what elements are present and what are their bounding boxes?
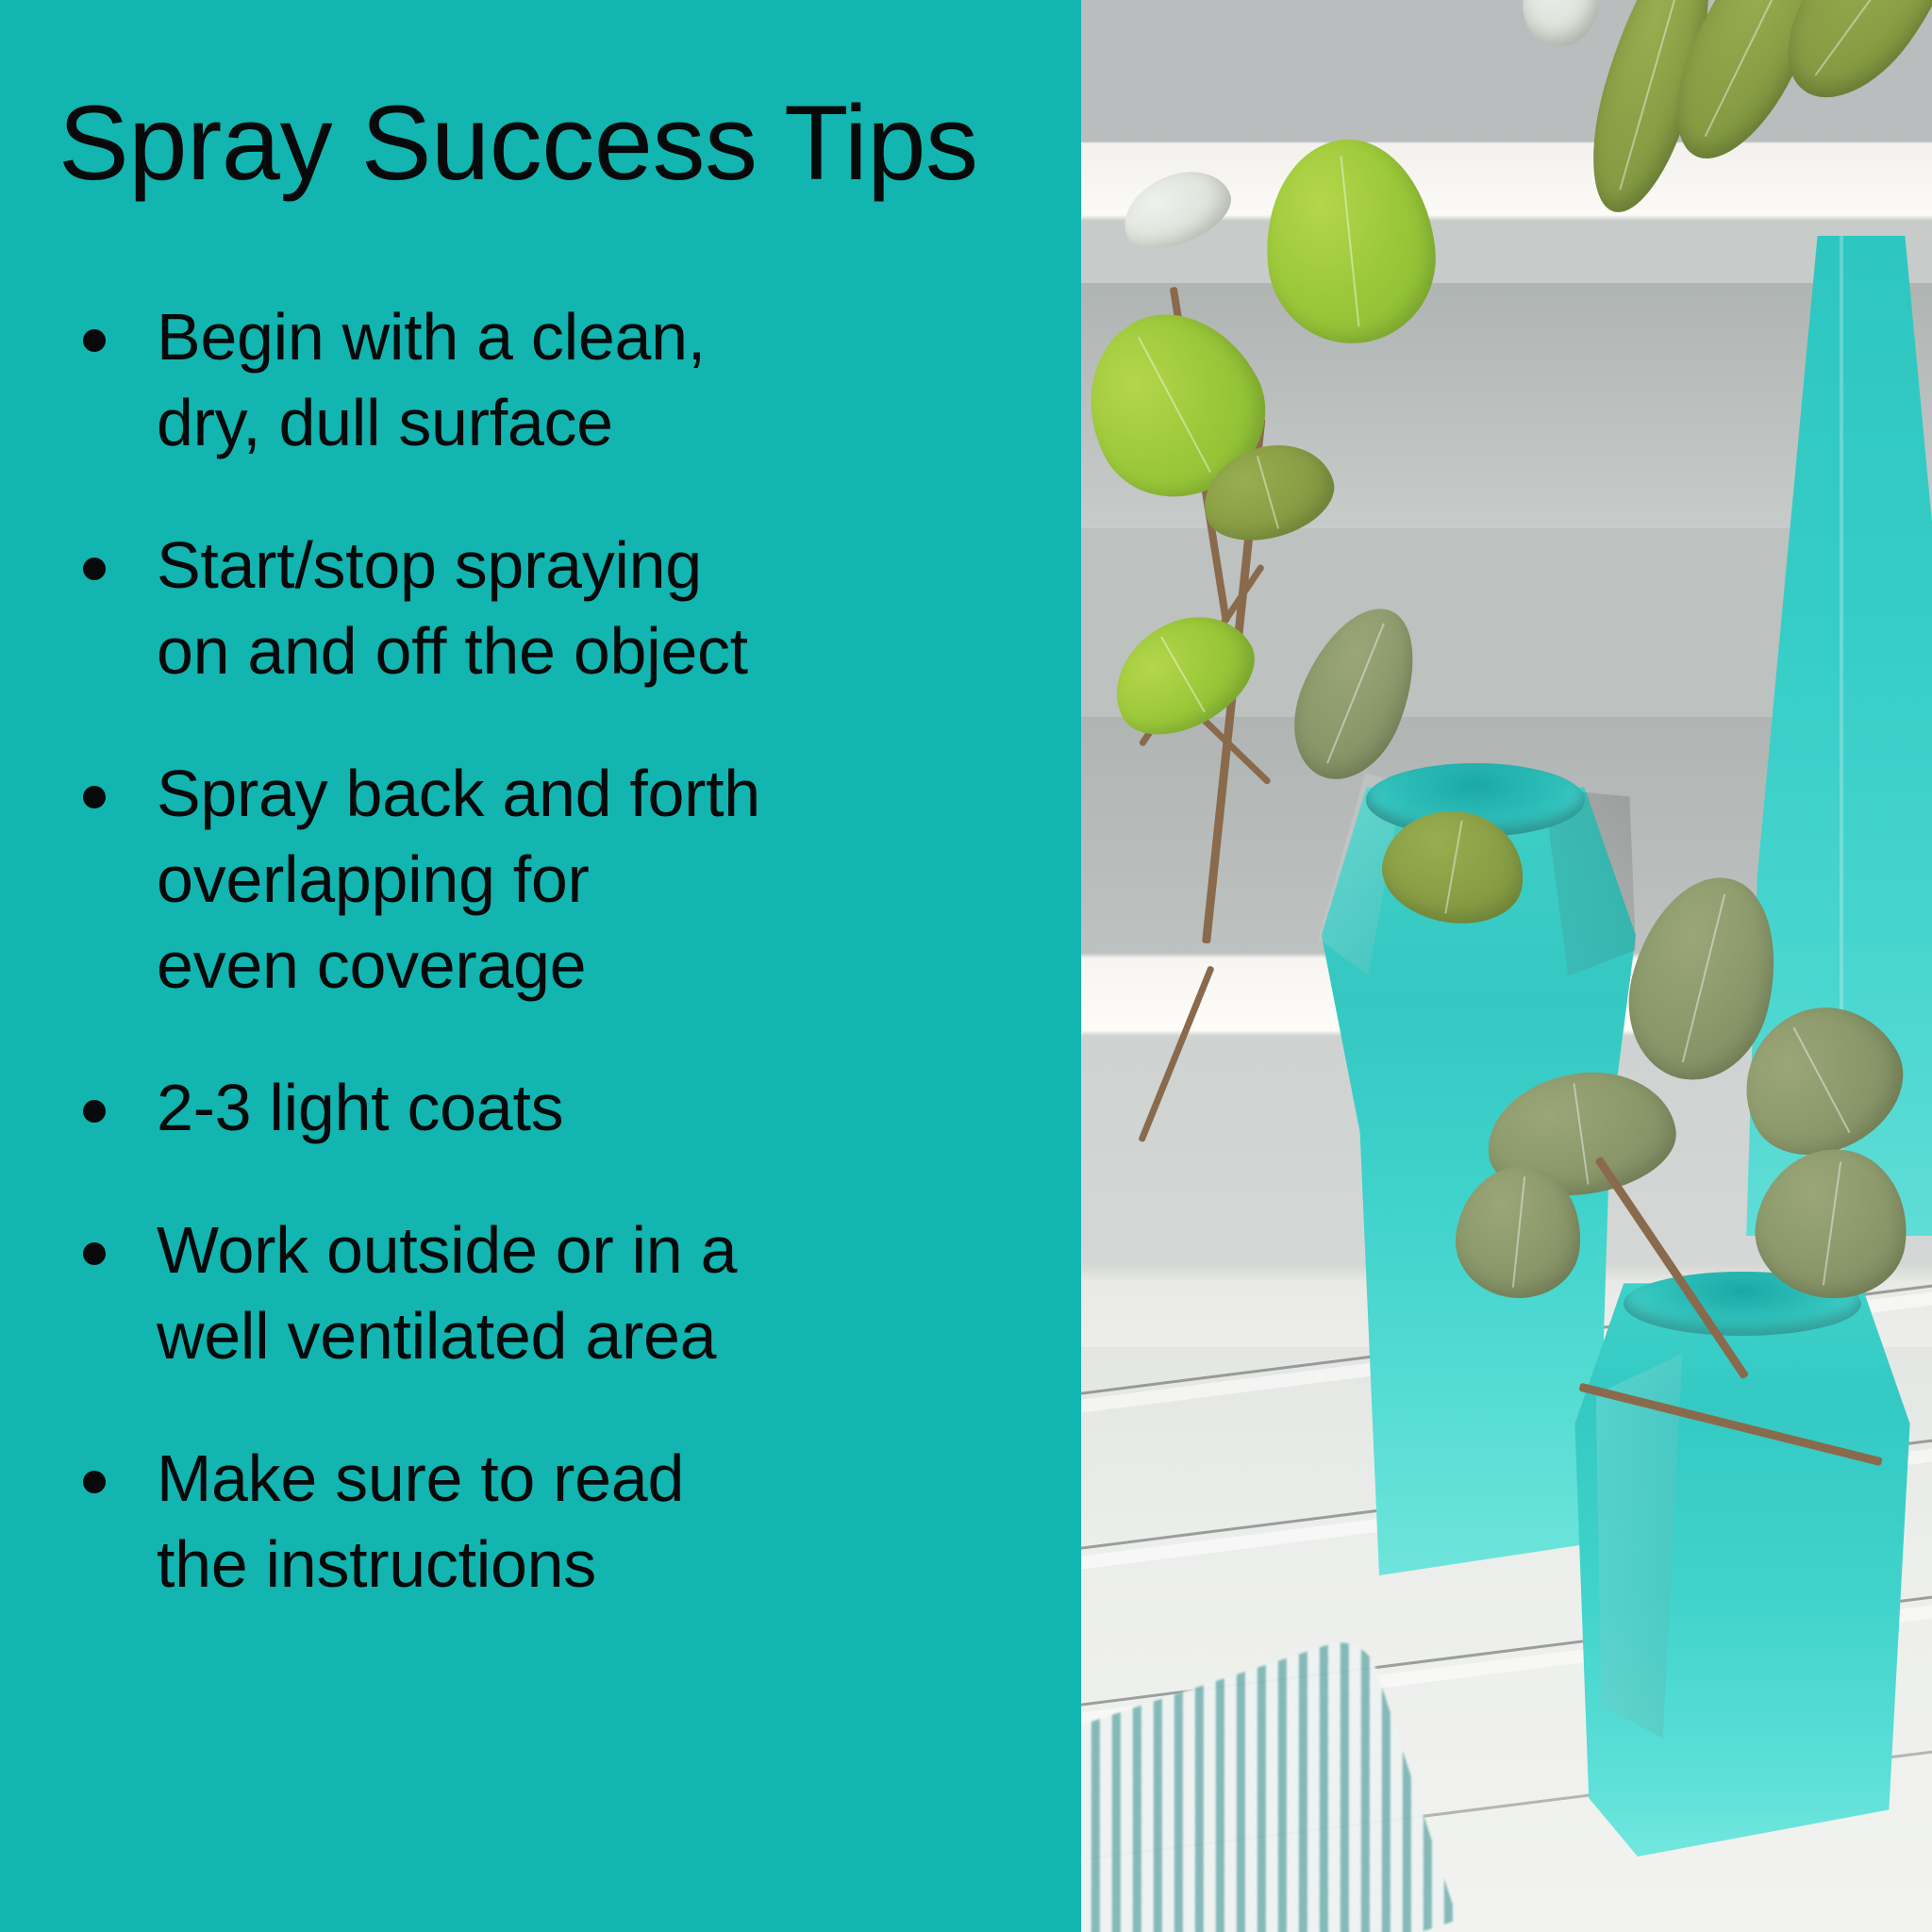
leaf-vein: [1138, 337, 1211, 474]
leaf-vein: [1682, 894, 1725, 1062]
bullet-icon: [83, 786, 106, 808]
leaf-vein: [1512, 1176, 1525, 1287]
leaf-vein: [1257, 456, 1279, 529]
tip-text: Begin with a clean, dry, dull surface: [157, 294, 706, 466]
bullet-icon: [83, 1242, 106, 1265]
product-photo: [1081, 0, 1932, 1932]
leaf-vein: [1793, 1027, 1851, 1133]
spray-tips-infographic: Spray Success Tips Begin with a clean, d…: [0, 0, 1932, 1932]
leaf-vein: [1823, 1161, 1841, 1286]
tips-panel: Spray Success Tips Begin with a clean, d…: [0, 0, 1081, 1932]
tip-text: Work outside or in a well ventilated are…: [157, 1207, 737, 1379]
tip-item-start-stop: Start/stop spraying on and off the objec…: [58, 523, 1043, 694]
tip-item-back-and-forth: Spray back and forth overlapping for eve…: [58, 751, 1043, 1008]
leaf-vein: [1341, 157, 1360, 327]
leaf-vein: [1160, 636, 1206, 712]
bullet-icon: [83, 558, 106, 580]
tips-list: Begin with a clean, dry, dull surface St…: [58, 294, 1043, 1607]
leaf-vein: [1574, 1084, 1590, 1185]
tip-item-read-instructions: Make sure to read the instructions: [58, 1436, 1043, 1607]
tip-text: Spray back and forth overlapping for eve…: [157, 751, 760, 1008]
photo-scene: [1081, 0, 1932, 1932]
leaf-vein: [1444, 821, 1462, 913]
page-title: Spray Success Tips: [58, 91, 1043, 196]
tip-item-clean-surface: Begin with a clean, dry, dull surface: [58, 294, 1043, 466]
tip-text: Start/stop spraying on and off the objec…: [157, 523, 748, 694]
tip-item-light-coats: 2-3 light coats: [58, 1065, 1043, 1151]
tip-text: 2-3 light coats: [157, 1065, 563, 1151]
tip-text: Make sure to read the instructions: [157, 1436, 684, 1607]
bullet-icon: [83, 329, 106, 352]
leaf-vein: [1326, 624, 1385, 764]
small-vase: [1568, 1272, 1917, 1857]
bullet-icon: [83, 1471, 106, 1493]
tip-item-ventilation: Work outside or in a well ventilated are…: [58, 1207, 1043, 1379]
bullet-icon: [83, 1100, 106, 1123]
